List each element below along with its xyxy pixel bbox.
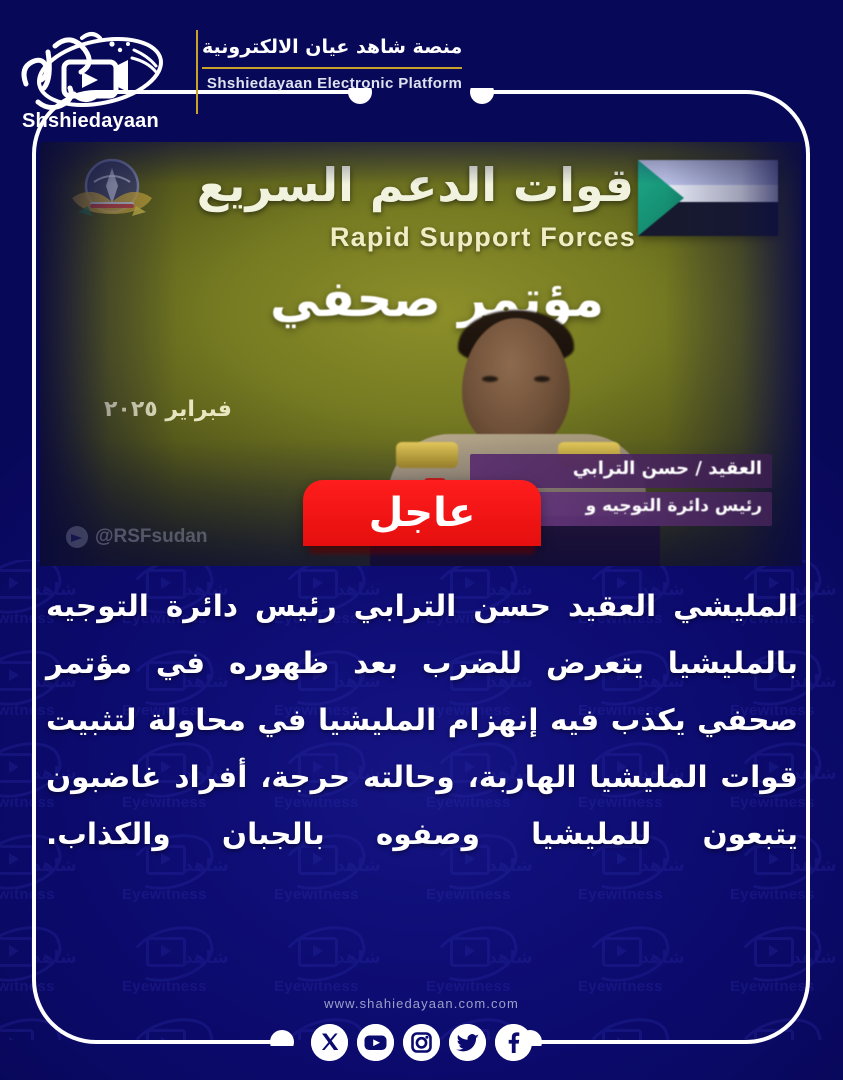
social-youtube[interactable] (357, 1024, 394, 1061)
rsf-handle-text: @RSFsudan (95, 526, 207, 548)
header-divider (196, 30, 198, 114)
platform-title-rule (202, 67, 462, 69)
chyron-name: العقيد / حسن الترابي (573, 458, 762, 479)
breaking-badge-label: عاجل (369, 493, 476, 533)
shahid-ayan-logo-icon (8, 24, 178, 112)
twitter-bird-icon (449, 1024, 486, 1061)
chyron-role: رئيس دائرة التوجيه و (586, 496, 762, 516)
social-links (0, 1024, 843, 1061)
website-url[interactable]: www.shahiedayaan.com.com (0, 996, 843, 1011)
poster-canvas: شاهدEyewitnessشاهدEyewitnessشاهدEyewitne… (0, 0, 843, 1080)
telegram-icon (66, 526, 88, 548)
article-headline: المليشي العقيد حسن الترابي رئيس دائرة ال… (46, 578, 798, 863)
social-twitter[interactable] (449, 1024, 486, 1061)
instagram-icon (403, 1024, 440, 1061)
platform-title-ar: منصة شاهد عيان الالكترونية (202, 36, 462, 60)
brand-logo: Shshiedayaan (0, 22, 180, 140)
x-twitter-icon (311, 1024, 348, 1061)
logo-wordmark: Shshiedayaan (22, 110, 159, 133)
brand-header: Shshiedayaan منصة شاهد عيان الالكترونية … (0, 22, 843, 142)
rsf-handle-watermark: @RSFsudan (66, 526, 207, 548)
youtube-icon (357, 1024, 394, 1061)
breaking-badge: عاجل (303, 480, 541, 554)
social-facebook[interactable] (495, 1024, 532, 1061)
platform-title-block: منصة شاهد عيان الالكترونية Shshiedayaan … (202, 22, 462, 92)
breaking-badge-chip: عاجل (303, 480, 541, 546)
social-x[interactable] (311, 1024, 348, 1061)
social-instagram[interactable] (403, 1024, 440, 1061)
facebook-icon (495, 1024, 532, 1061)
platform-title-en: Shshiedayaan Electronic Platform (202, 75, 462, 92)
